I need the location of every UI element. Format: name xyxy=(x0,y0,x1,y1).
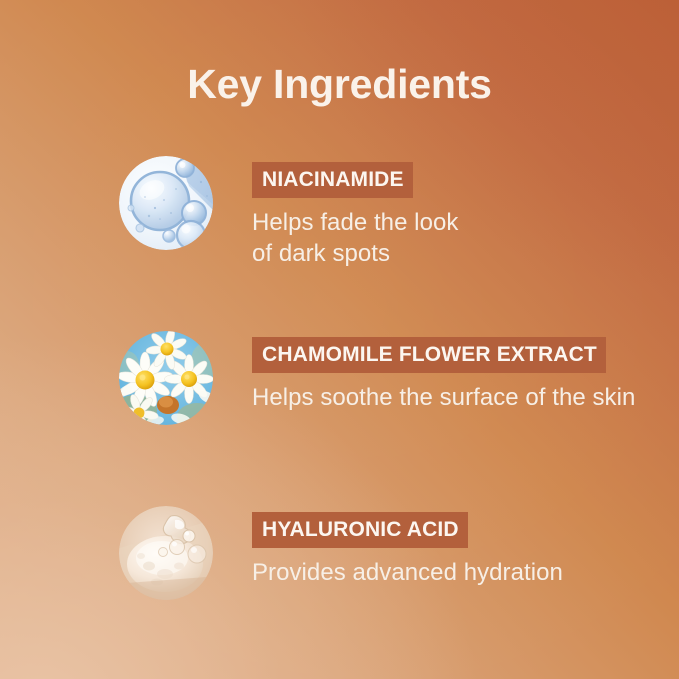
chamomile-flowers-icon xyxy=(119,331,213,425)
ingredient-row: NIACINAMIDE Helps fade the look of dark … xyxy=(0,156,679,269)
ingredient-thumbnail-hyaluronic xyxy=(119,506,213,600)
ingredient-thumbnail-chamomile xyxy=(119,331,213,425)
ingredient-description: Helps fade the look of dark spots xyxy=(252,207,679,269)
ingredient-description: Provides advanced hydration xyxy=(252,557,679,588)
ingredient-text-block: NIACINAMIDE Helps fade the look of dark … xyxy=(252,156,679,269)
ingredient-description: Helps soothe the surface of the skin xyxy=(252,382,679,413)
key-ingredients-poster: Key Ingredients xyxy=(0,0,679,679)
page-title: Key Ingredients xyxy=(0,62,679,107)
ingredient-row: HYALURONIC ACID Provides advanced hydrat… xyxy=(0,506,679,600)
ingredient-text-block: HYALURONIC ACID Provides advanced hydrat… xyxy=(252,506,679,588)
ingredient-thumbnail-niacinamide xyxy=(119,156,213,250)
ingredient-row: CHAMOMILE FLOWER EXTRACT Helps soothe th… xyxy=(0,331,679,425)
ingredient-name-badge: CHAMOMILE FLOWER EXTRACT xyxy=(252,337,606,373)
water-bubbles-icon xyxy=(119,156,213,250)
ingredient-name-badge: HYALURONIC ACID xyxy=(252,512,468,548)
poster-content: Key Ingredients xyxy=(0,0,679,679)
ingredient-text-block: CHAMOMILE FLOWER EXTRACT Helps soothe th… xyxy=(252,331,679,413)
ingredient-name-badge: NIACINAMIDE xyxy=(252,162,413,198)
gel-droplet-icon xyxy=(119,506,213,600)
